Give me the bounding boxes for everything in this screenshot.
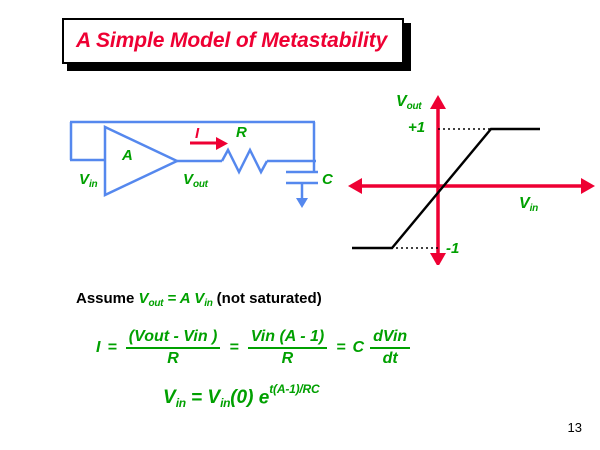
y-axis-arrow-bottom [430, 253, 446, 265]
assume-statement: Assume Vout = A Vin (not saturated) [76, 290, 322, 307]
graph-label-minus-one: -1 [446, 241, 459, 256]
final-equals: = [186, 387, 208, 408]
y-axis-arrow-top [430, 95, 446, 109]
final-v-in-zero: Vin(0) [207, 387, 258, 408]
fraction-2-denominator: R [282, 349, 294, 368]
x-axis-arrow-right [581, 178, 595, 194]
graph-label-v-out: Vout [396, 94, 421, 110]
transfer-curve [352, 129, 540, 248]
fraction-dvin-over-dt: dVin dt [370, 328, 410, 368]
resistor-symbol [222, 150, 267, 172]
fraction-3-numerator: dVin [370, 328, 410, 349]
current-equals-3: = [336, 339, 345, 357]
final-exponential-base: e [259, 387, 270, 408]
slide-canvas: A Simple Model of Metastability Vin A V [0, 0, 600, 450]
assume-prefix: Assume [76, 290, 139, 307]
title-box: A Simple Model of Metastability [62, 18, 404, 64]
current-lhs: I [96, 339, 100, 357]
fraction-1-numerator: (Vout - Vin ) [126, 328, 221, 349]
fraction-vin-a-minus-1-over-r: Vin (A - 1) R [248, 328, 327, 368]
final-v-in: Vin [163, 387, 186, 408]
final-exponent: t(A-1)/RC [269, 382, 319, 396]
capacitance-term: C [353, 339, 365, 357]
current-equals-1: = [107, 339, 116, 357]
assume-equals: = [163, 290, 180, 307]
fraction-2-numerator: Vin (A - 1) [248, 328, 327, 349]
page-title: A Simple Model of Metastability [76, 29, 387, 53]
page-number: 13 [568, 420, 582, 435]
final-equation: Vin = Vin(0) et(A-1)/RC [163, 385, 319, 409]
current-arrow-head [216, 137, 228, 150]
label-amplifier-gain: A [122, 148, 133, 163]
ground-arrowhead [296, 198, 308, 208]
label-resistor-r: R [236, 125, 247, 140]
fraction-1-denominator: R [167, 349, 179, 368]
assume-suffix: (not saturated) [213, 290, 322, 307]
fraction-vout-minus-vin-over-r: (Vout - Vin ) R [126, 328, 221, 368]
x-axis-arrow-left [348, 178, 362, 194]
current-equation: I = (Vout - Vin ) R = Vin (A - 1) R = C … [96, 328, 412, 368]
current-equals-2: = [229, 339, 238, 357]
assume-v-in: Vin [190, 290, 212, 307]
fraction-3-denominator: dt [383, 349, 398, 368]
transfer-characteristic-graph [340, 85, 600, 265]
label-v-out: Vout [183, 172, 208, 187]
label-current-i: I [195, 126, 199, 141]
circuit-diagram [55, 105, 355, 230]
assume-gain-a: A [180, 290, 190, 307]
label-capacitor-c: C [322, 172, 333, 187]
amplifier-triangle [105, 127, 177, 195]
label-v-in: Vin [79, 172, 97, 187]
graph-label-plus-one: +1 [408, 120, 425, 135]
graph-label-v-in: Vin [519, 196, 538, 212]
assume-v-out: Vout [139, 290, 164, 307]
